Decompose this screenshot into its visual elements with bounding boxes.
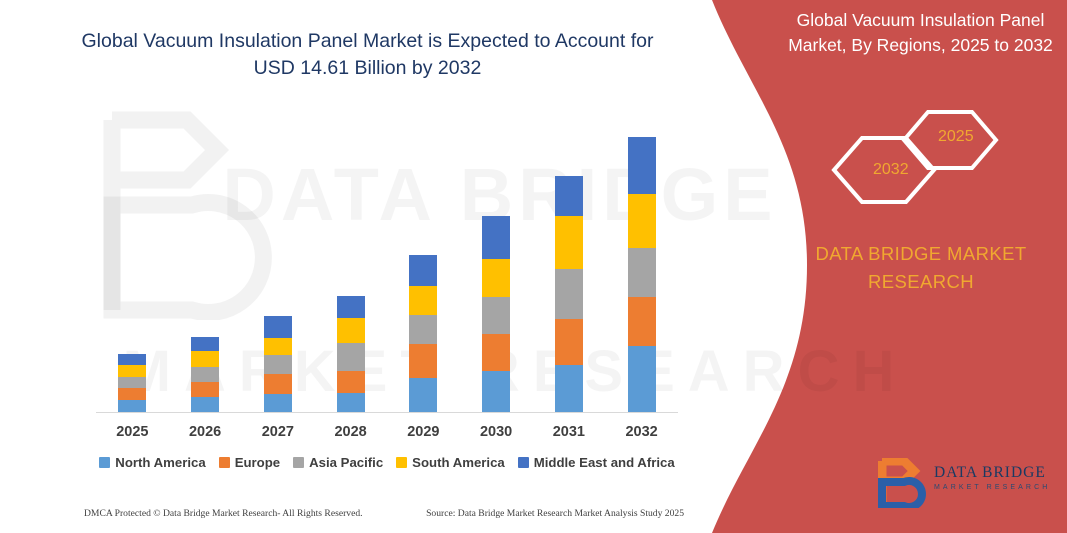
x-axis-tick-2029: 2029 [391, 424, 455, 440]
bar-segment[interactable] [555, 216, 583, 269]
bar-segment[interactable] [482, 216, 510, 259]
x-axis-tick-2025: 2025 [100, 424, 164, 440]
stacked-bar[interactable] [628, 137, 656, 413]
bar-segment[interactable] [118, 354, 146, 365]
brand-name: DATA BRIDGE MARKET RESEARCH [786, 240, 1056, 296]
bar-segment[interactable] [409, 286, 437, 315]
bar-segment[interactable] [337, 393, 365, 413]
bar-segment[interactable] [264, 394, 292, 413]
logo-text: DATA BRIDGE MARKET RESEARCH [934, 464, 1050, 491]
stacked-bar[interactable] [555, 176, 583, 413]
bar-segment[interactable] [191, 337, 219, 351]
bar-segment[interactable] [264, 338, 292, 355]
legend-item[interactable]: Middle East and Africa [518, 455, 675, 470]
bar-segment[interactable] [264, 374, 292, 394]
bar-segment[interactable] [628, 137, 656, 194]
bar-segment[interactable] [118, 388, 146, 400]
bar-segment[interactable] [555, 176, 583, 216]
footer-source: Source: Data Bridge Market Research Mark… [426, 508, 684, 519]
bar-segment[interactable] [409, 315, 437, 344]
legend-label: Asia Pacific [309, 455, 383, 470]
x-axis-labels: 20252026202720282029203020312032 [96, 420, 678, 444]
stacked-bar[interactable] [118, 354, 146, 413]
x-axis-tick-2030: 2030 [464, 424, 528, 440]
bar-segment[interactable] [264, 355, 292, 374]
bar-segment[interactable] [555, 365, 583, 413]
bar-segment[interactable] [482, 371, 510, 413]
stacked-bar-chart [96, 120, 676, 413]
stacked-bar[interactable] [409, 255, 437, 413]
bar-segment[interactable] [191, 351, 219, 367]
bar-segment[interactable] [628, 248, 656, 297]
stacked-bar[interactable] [482, 216, 510, 413]
x-axis-tick-2031: 2031 [537, 424, 601, 440]
logo-subtitle: MARKET RESEARCH [934, 484, 1050, 491]
bar-segment[interactable] [337, 343, 365, 371]
legend-label: North America [115, 455, 205, 470]
stacked-bar[interactable] [264, 316, 292, 413]
bar-segment[interactable] [118, 365, 146, 377]
bar-group-2028 [314, 296, 387, 413]
bar-segment[interactable] [337, 371, 365, 393]
bar-segment[interactable] [628, 346, 656, 413]
logo-title: DATA BRIDGE [934, 464, 1050, 482]
data-bridge-logo-icon [878, 458, 930, 508]
bar-group-2025 [96, 354, 169, 413]
bar-segment[interactable] [482, 259, 510, 297]
right-panel-title: Global Vacuum Insulation Panel Market, B… [778, 8, 1063, 58]
stacked-bar[interactable] [337, 296, 365, 413]
bar-group-2031 [533, 176, 606, 413]
bar-segment[interactable] [337, 318, 365, 343]
chart-panel: Global Vacuum Insulation Panel Market is… [0, 0, 700, 533]
bar-segment[interactable] [409, 255, 437, 286]
bar-segment[interactable] [482, 334, 510, 371]
x-axis-tick-2032: 2032 [610, 424, 674, 440]
bar-segment[interactable] [555, 319, 583, 365]
x-axis-tick-2026: 2026 [173, 424, 237, 440]
legend-label: Europe [235, 455, 280, 470]
legend-label: Middle East and Africa [534, 455, 675, 470]
footer-copyright: DMCA Protected © Data Bridge Market Rese… [84, 508, 363, 519]
bar-group-2027 [242, 316, 315, 413]
bar-segment[interactable] [409, 344, 437, 378]
legend-label: South America [412, 455, 505, 470]
legend-item[interactable]: Asia Pacific [293, 455, 383, 470]
chart-title: Global Vacuum Insulation Panel Market is… [60, 28, 675, 82]
bar-segment[interactable] [555, 269, 583, 319]
bar-segment[interactable] [191, 397, 219, 413]
bar-segment[interactable] [337, 296, 365, 318]
hexagon-outlines-icon [820, 98, 1040, 210]
x-axis-tick-2027: 2027 [246, 424, 310, 440]
bar-segment[interactable] [482, 297, 510, 334]
right-panel: Global Vacuum Insulation Panel Market, B… [770, 0, 1067, 533]
legend-swatch-icon [518, 457, 529, 468]
bar-segment[interactable] [628, 297, 656, 346]
hexagon-label-2032: 2032 [873, 161, 909, 179]
legend-item[interactable]: Europe [219, 455, 280, 470]
x-axis-tick-2028: 2028 [319, 424, 383, 440]
infographic-root: DATA BRIDGE MARKET RESEARCH Global Vacuu… [0, 0, 1067, 533]
hexagon-group: 2025 2032 [820, 98, 1040, 210]
legend-swatch-icon [99, 457, 110, 468]
bar-segment[interactable] [409, 378, 437, 413]
bar-group-2030 [460, 216, 533, 413]
bar-segment[interactable] [191, 382, 219, 397]
company-logo: DATA BRIDGE MARKET RESEARCH [878, 458, 1053, 510]
hexagon-label-2025: 2025 [938, 128, 974, 146]
legend-swatch-icon [396, 457, 407, 468]
legend-item[interactable]: North America [99, 455, 205, 470]
stacked-bar[interactable] [191, 337, 219, 413]
bar-segment[interactable] [191, 367, 219, 382]
legend-swatch-icon [219, 457, 230, 468]
bar-group-2029 [387, 255, 460, 413]
bar-segment[interactable] [264, 316, 292, 338]
bar-segment[interactable] [628, 194, 656, 248]
chart-baseline [96, 412, 678, 413]
footer: DMCA Protected © Data Bridge Market Rese… [84, 508, 684, 519]
bar-group-2026 [169, 337, 242, 413]
chart-legend: North AmericaEuropeAsia PacificSouth Ame… [96, 455, 678, 470]
legend-swatch-icon [293, 457, 304, 468]
bar-group-2032 [605, 137, 678, 413]
legend-item[interactable]: South America [396, 455, 505, 470]
bar-segment[interactable] [118, 377, 146, 388]
